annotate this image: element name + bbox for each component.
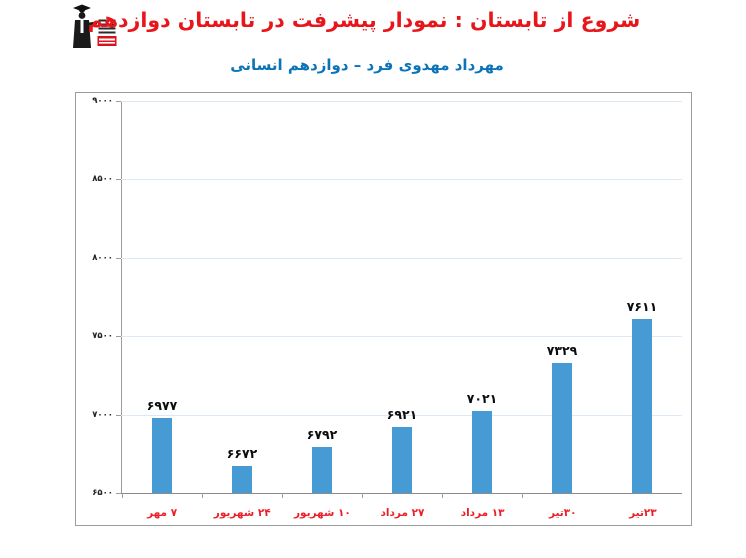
bar[interactable] (632, 319, 652, 493)
y-axis-tick-label: ۸۰۰۰ (92, 253, 113, 263)
bar[interactable] (472, 411, 492, 493)
x-axis-tick (202, 493, 203, 498)
x-axis-labels: ۲۳تیر۳۰تیر۱۳ مرداد۲۷ مرداد۱۰ شهریور۲۴ شه… (122, 501, 683, 525)
x-axis-label-slot: ۱۰ شهریور (282, 501, 362, 525)
y-axis-tick-label: ۷۰۰۰ (92, 410, 113, 420)
bar[interactable] (152, 418, 172, 493)
y-axis-tick (116, 336, 121, 337)
x-axis-tick (122, 493, 123, 498)
x-axis-tick-label: ۲۳تیر (629, 507, 657, 519)
bar-group: ۶۷۹۲ (282, 101, 362, 493)
bar-group: ۶۹۲۱ (362, 101, 442, 493)
bar-group: ۷۰۲۱ (442, 101, 522, 493)
x-axis-tick-label: ۷ مهر (147, 507, 177, 519)
bar[interactable] (312, 447, 332, 493)
x-axis-tick (362, 493, 363, 498)
x-axis-tick-label: ۲۷ مرداد (381, 507, 425, 519)
bar-group: ۷۶۱۱ (602, 101, 682, 493)
x-axis-tick-label: ۲۴ شهریور (214, 507, 271, 519)
y-axis-tick-label: ۷۵۰۰ (92, 331, 113, 341)
x-axis-tick (522, 493, 523, 498)
y-axis-tick-label: ۸۵۰۰ (92, 174, 113, 184)
bar-value-label: ۶۶۷۲ (227, 446, 258, 461)
gridline (121, 493, 682, 494)
x-axis-label-slot: ۲۳تیر (603, 501, 683, 525)
page-subtitle: مهرداد مهدوی فرد – دوازدهم انسانی (0, 56, 746, 74)
y-axis-tick-label: ۹۰۰۰ (92, 96, 113, 106)
bar-group: ۶۹۷۷ (122, 101, 202, 493)
bar-value-label: ۶۹۷۷ (147, 398, 178, 413)
bar-value-label: ۷۳۲۹ (547, 343, 578, 358)
plot-area: ۹۰۰۰۸۵۰۰۸۰۰۰۷۵۰۰۷۰۰۰۶۵۰۰ ۷۶۱۱۷۳۲۹۷۰۲۱۶۹۲… (121, 101, 682, 493)
x-axis-label-slot: ۷ مهر (122, 501, 202, 525)
bar-value-label: ۶۷۹۲ (307, 427, 338, 442)
y-axis-tick (116, 258, 121, 259)
x-axis-tick-label: ۱۰ شهریور (294, 507, 351, 519)
x-axis-tick-label: ۳۰تیر (549, 507, 577, 519)
chart-container: ۹۰۰۰۸۵۰۰۸۰۰۰۷۵۰۰۷۰۰۰۶۵۰۰ ۷۶۱۱۷۳۲۹۷۰۲۱۶۹۲… (75, 92, 692, 526)
bar-group: ۶۶۷۲ (202, 101, 282, 493)
y-axis-tick-label: ۶۵۰۰ (92, 488, 113, 498)
bar-value-label: ۷۶۱۱ (627, 299, 658, 314)
bar[interactable] (552, 363, 572, 493)
bar-group: ۷۳۲۹ (522, 101, 602, 493)
x-axis-label-slot: ۲۷ مرداد (362, 501, 442, 525)
x-axis-tick-label: ۱۳ مرداد (461, 507, 505, 519)
chart-header: شروع از تابستان : نمودار پیشرفت در تابست… (0, 0, 746, 90)
bar[interactable] (232, 466, 252, 493)
x-axis-tick (282, 493, 283, 498)
bar-series: ۷۶۱۱۷۳۲۹۷۰۲۱۶۹۲۱۶۷۹۲۶۶۷۲۶۹۷۷ (122, 101, 682, 493)
y-axis-tick (116, 179, 121, 180)
x-axis-label-slot: ۳۰تیر (523, 501, 603, 525)
bar-value-label: ۷۰۲۱ (467, 391, 498, 406)
bar-value-label: ۶۹۲۱ (387, 407, 418, 422)
y-axis-tick (116, 493, 121, 494)
bar[interactable] (392, 427, 412, 493)
y-axis-tick (116, 101, 121, 102)
x-axis-label-slot: ۲۴ شهریور (202, 501, 282, 525)
y-axis-tick (116, 415, 121, 416)
x-axis-label-slot: ۱۳ مرداد (443, 501, 523, 525)
page-title: شروع از تابستان : نمودار پیشرفت در تابست… (0, 8, 746, 32)
x-axis-tick (442, 493, 443, 498)
